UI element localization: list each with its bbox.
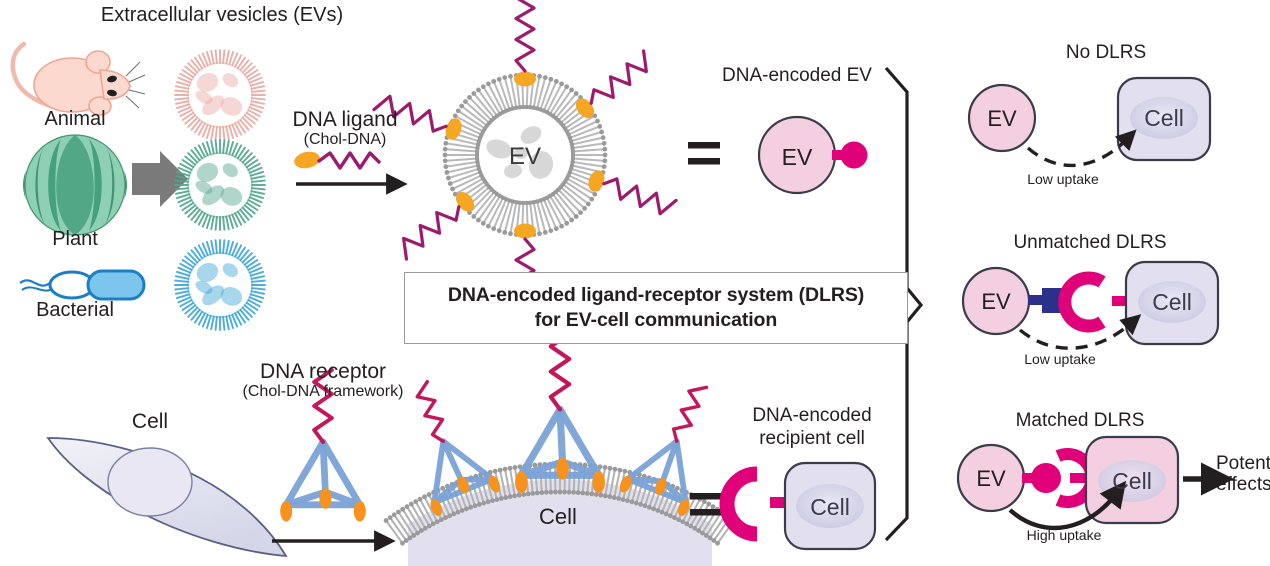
dna-ligand-title: DNA ligand bbox=[292, 108, 397, 132]
encoded-ev-glyph bbox=[759, 117, 868, 193]
dlrs-summary-box: DNA-encoded ligand-receptor system (DLRS… bbox=[404, 272, 908, 344]
encoded-cell-label: Cell bbox=[810, 494, 850, 521]
dna-receptor-subtitle: (Chol-DNA framework) bbox=[243, 383, 404, 401]
free-cell-label: Cell bbox=[132, 410, 168, 434]
panel-title-unmatched: Unmatched DLRS bbox=[1013, 232, 1166, 254]
panel-uptake-matched: High uptake bbox=[1027, 527, 1102, 543]
chol-dna-ligand-icon bbox=[293, 149, 379, 170]
dna-receptor-title: DNA receptor bbox=[260, 360, 386, 384]
panel-cell-label-matched: Cell bbox=[1112, 468, 1152, 495]
panel-title-matched: Matched DLRS bbox=[1016, 410, 1145, 432]
encoded-ev-label: EV bbox=[782, 144, 813, 171]
equals-top-icon bbox=[688, 142, 720, 165]
membrane-cell-label: Cell bbox=[539, 504, 577, 530]
encoded-cell-title-line1: DNA-encoded bbox=[752, 405, 871, 427]
encoded-ev-title: DNA-encoded EV bbox=[722, 65, 872, 87]
encoded-cell-title-line2: recipient cell bbox=[759, 428, 865, 450]
ev-particle-label: EV bbox=[509, 143, 541, 171]
mouse-icon bbox=[13, 44, 145, 115]
panel-uptake-no-dlrs: Low uptake bbox=[1027, 171, 1099, 187]
panel-outcome-matched: Potent effects bbox=[1216, 453, 1270, 496]
grey-block-arrow-icon bbox=[132, 151, 188, 207]
dlrs-box-line1: DNA-encoded ligand-receptor system (DLRS… bbox=[448, 284, 864, 306]
figure-canvas: Extracellular vesicles (EVs) Animal Plan… bbox=[0, 0, 1270, 566]
vesicle-plant bbox=[175, 140, 265, 230]
panel-cell-label-unmatched: Cell bbox=[1152, 289, 1192, 316]
source-label-bacterial: Bacterial bbox=[36, 299, 114, 322]
source-label-plant: Plant bbox=[52, 228, 98, 251]
dlrs-box-line2: for EV-cell communication bbox=[535, 309, 777, 331]
panel-uptake-unmatched: Low uptake bbox=[1024, 351, 1096, 367]
source-label-animal: Animal bbox=[44, 108, 105, 131]
figure-title: Extracellular vesicles (EVs) bbox=[101, 4, 343, 27]
panel-cell-label-no-dlrs: Cell bbox=[1144, 105, 1184, 132]
panel-ev-label-unmatched: EV bbox=[981, 289, 1010, 315]
encoded-recipient-cell-glyph bbox=[727, 463, 875, 549]
bacterium-icon bbox=[20, 271, 144, 299]
vesicle-bacterial bbox=[175, 240, 265, 330]
watermelon-icon bbox=[23, 135, 127, 235]
vesicle-animal bbox=[175, 50, 265, 140]
dna-encoded-cell-membrane bbox=[384, 334, 737, 566]
equals-bottom-icon bbox=[690, 493, 722, 516]
dna-ligand-subtitle: (Chol-DNA) bbox=[304, 131, 387, 149]
panel-ev-label-matched: EV bbox=[976, 466, 1005, 492]
free-cell-illustration bbox=[48, 438, 286, 556]
panel-ev-label-no-dlrs: EV bbox=[987, 106, 1016, 132]
panel-title-no-dlrs: No DLRS bbox=[1066, 42, 1146, 64]
